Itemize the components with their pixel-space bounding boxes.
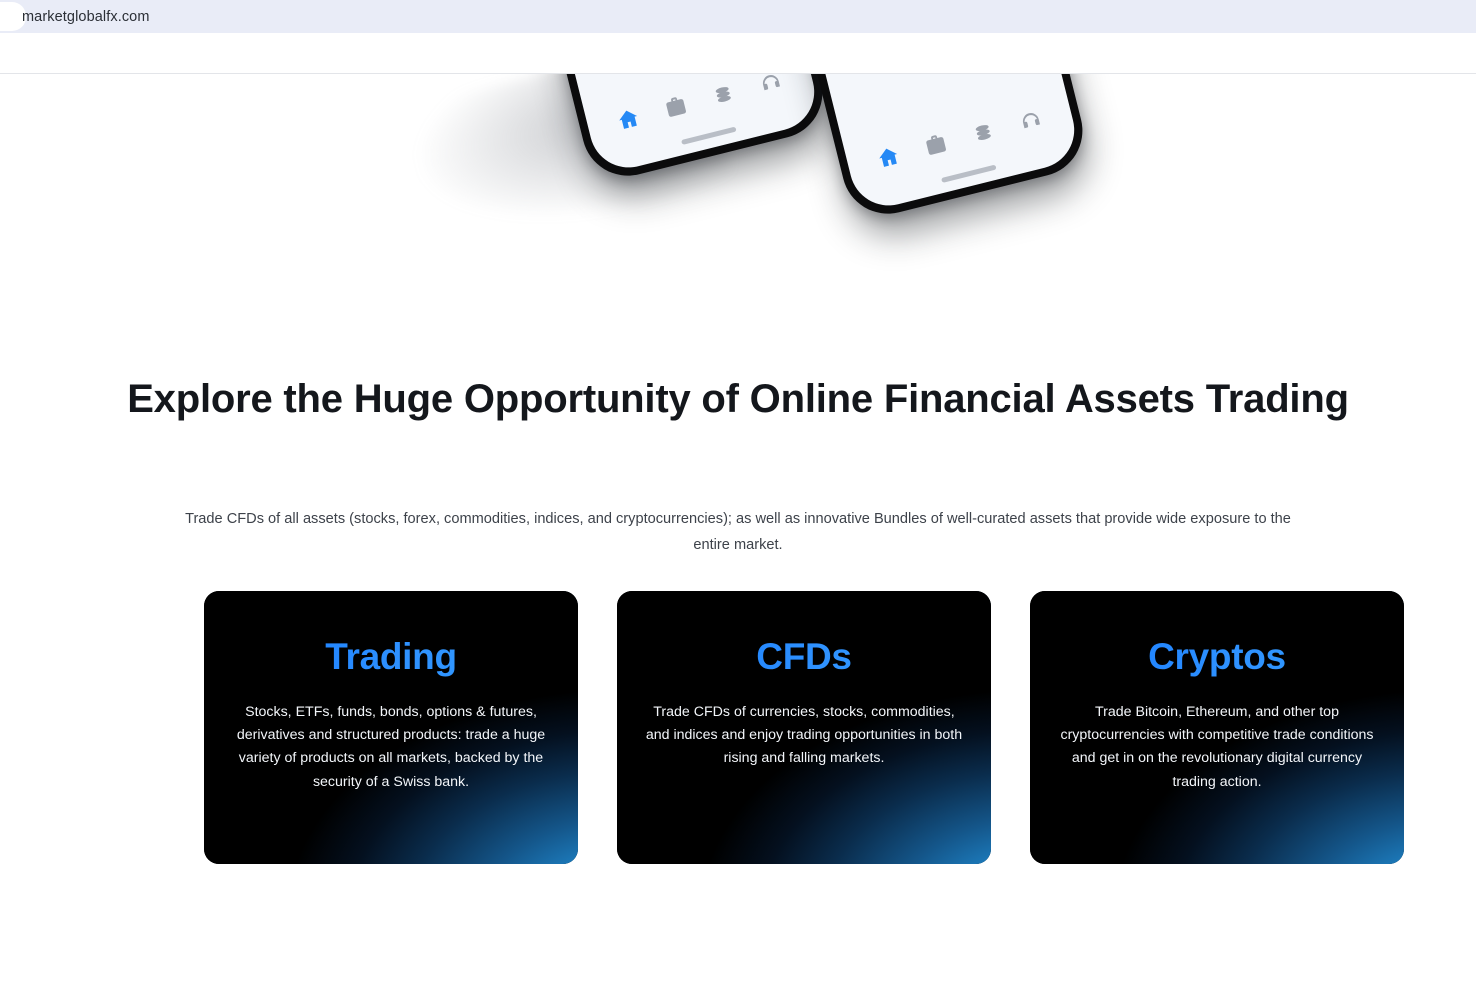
headset-icon[interactable] — [757, 74, 786, 98]
feature-card-title: CFDs — [641, 635, 967, 679]
home-icon[interactable] — [874, 143, 903, 172]
url-text: marketglobalfx.com — [22, 9, 150, 25]
briefcase-icon[interactable] — [661, 93, 690, 122]
feature-card-body: Stocks, ETFs, funds, bonds, options & fu… — [228, 701, 554, 794]
phone-one-home-indicator — [681, 127, 737, 145]
feature-card-cfds[interactable]: CFDs Trade CFDs of currencies, stocks, c… — [617, 591, 991, 864]
feature-card-title: Cryptos — [1054, 635, 1380, 679]
briefcase-icon[interactable] — [921, 131, 950, 160]
browser-url-bar[interactable]: marketglobalfx.com — [0, 0, 1476, 33]
feature-card-body: Trade Bitcoin, Ethereum, and other top c… — [1054, 701, 1380, 794]
feature-card-trading[interactable]: Trading Stocks, ETFs, funds, bonds, opti… — [204, 591, 578, 864]
page-subtitle: Trade CFDs of all assets (stocks, forex,… — [0, 506, 1476, 558]
feature-card-body: Trade CFDs of currencies, stocks, commod… — [641, 701, 967, 771]
coins-icon[interactable] — [969, 119, 998, 148]
phone-mockup-group: Equity 9182.51 Leverage 1:150 — [0, 74, 1476, 364]
phone-two-home-indicator — [941, 165, 997, 183]
hero-section: Equity 9182.51 Leverage 1:150 — [0, 74, 1476, 364]
coins-icon[interactable] — [709, 81, 738, 110]
feature-card-cryptos[interactable]: Cryptos Trade Bitcoin, Ethereum, and oth… — [1030, 591, 1404, 864]
feature-card-title: Trading — [228, 635, 554, 679]
home-icon[interactable] — [614, 105, 643, 134]
feature-card-grid: Trading Stocks, ETFs, funds, bonds, opti… — [204, 591, 1404, 864]
page-title: Explore the Huge Opportunity of Online F… — [0, 372, 1476, 426]
headset-icon[interactable] — [1017, 107, 1046, 136]
